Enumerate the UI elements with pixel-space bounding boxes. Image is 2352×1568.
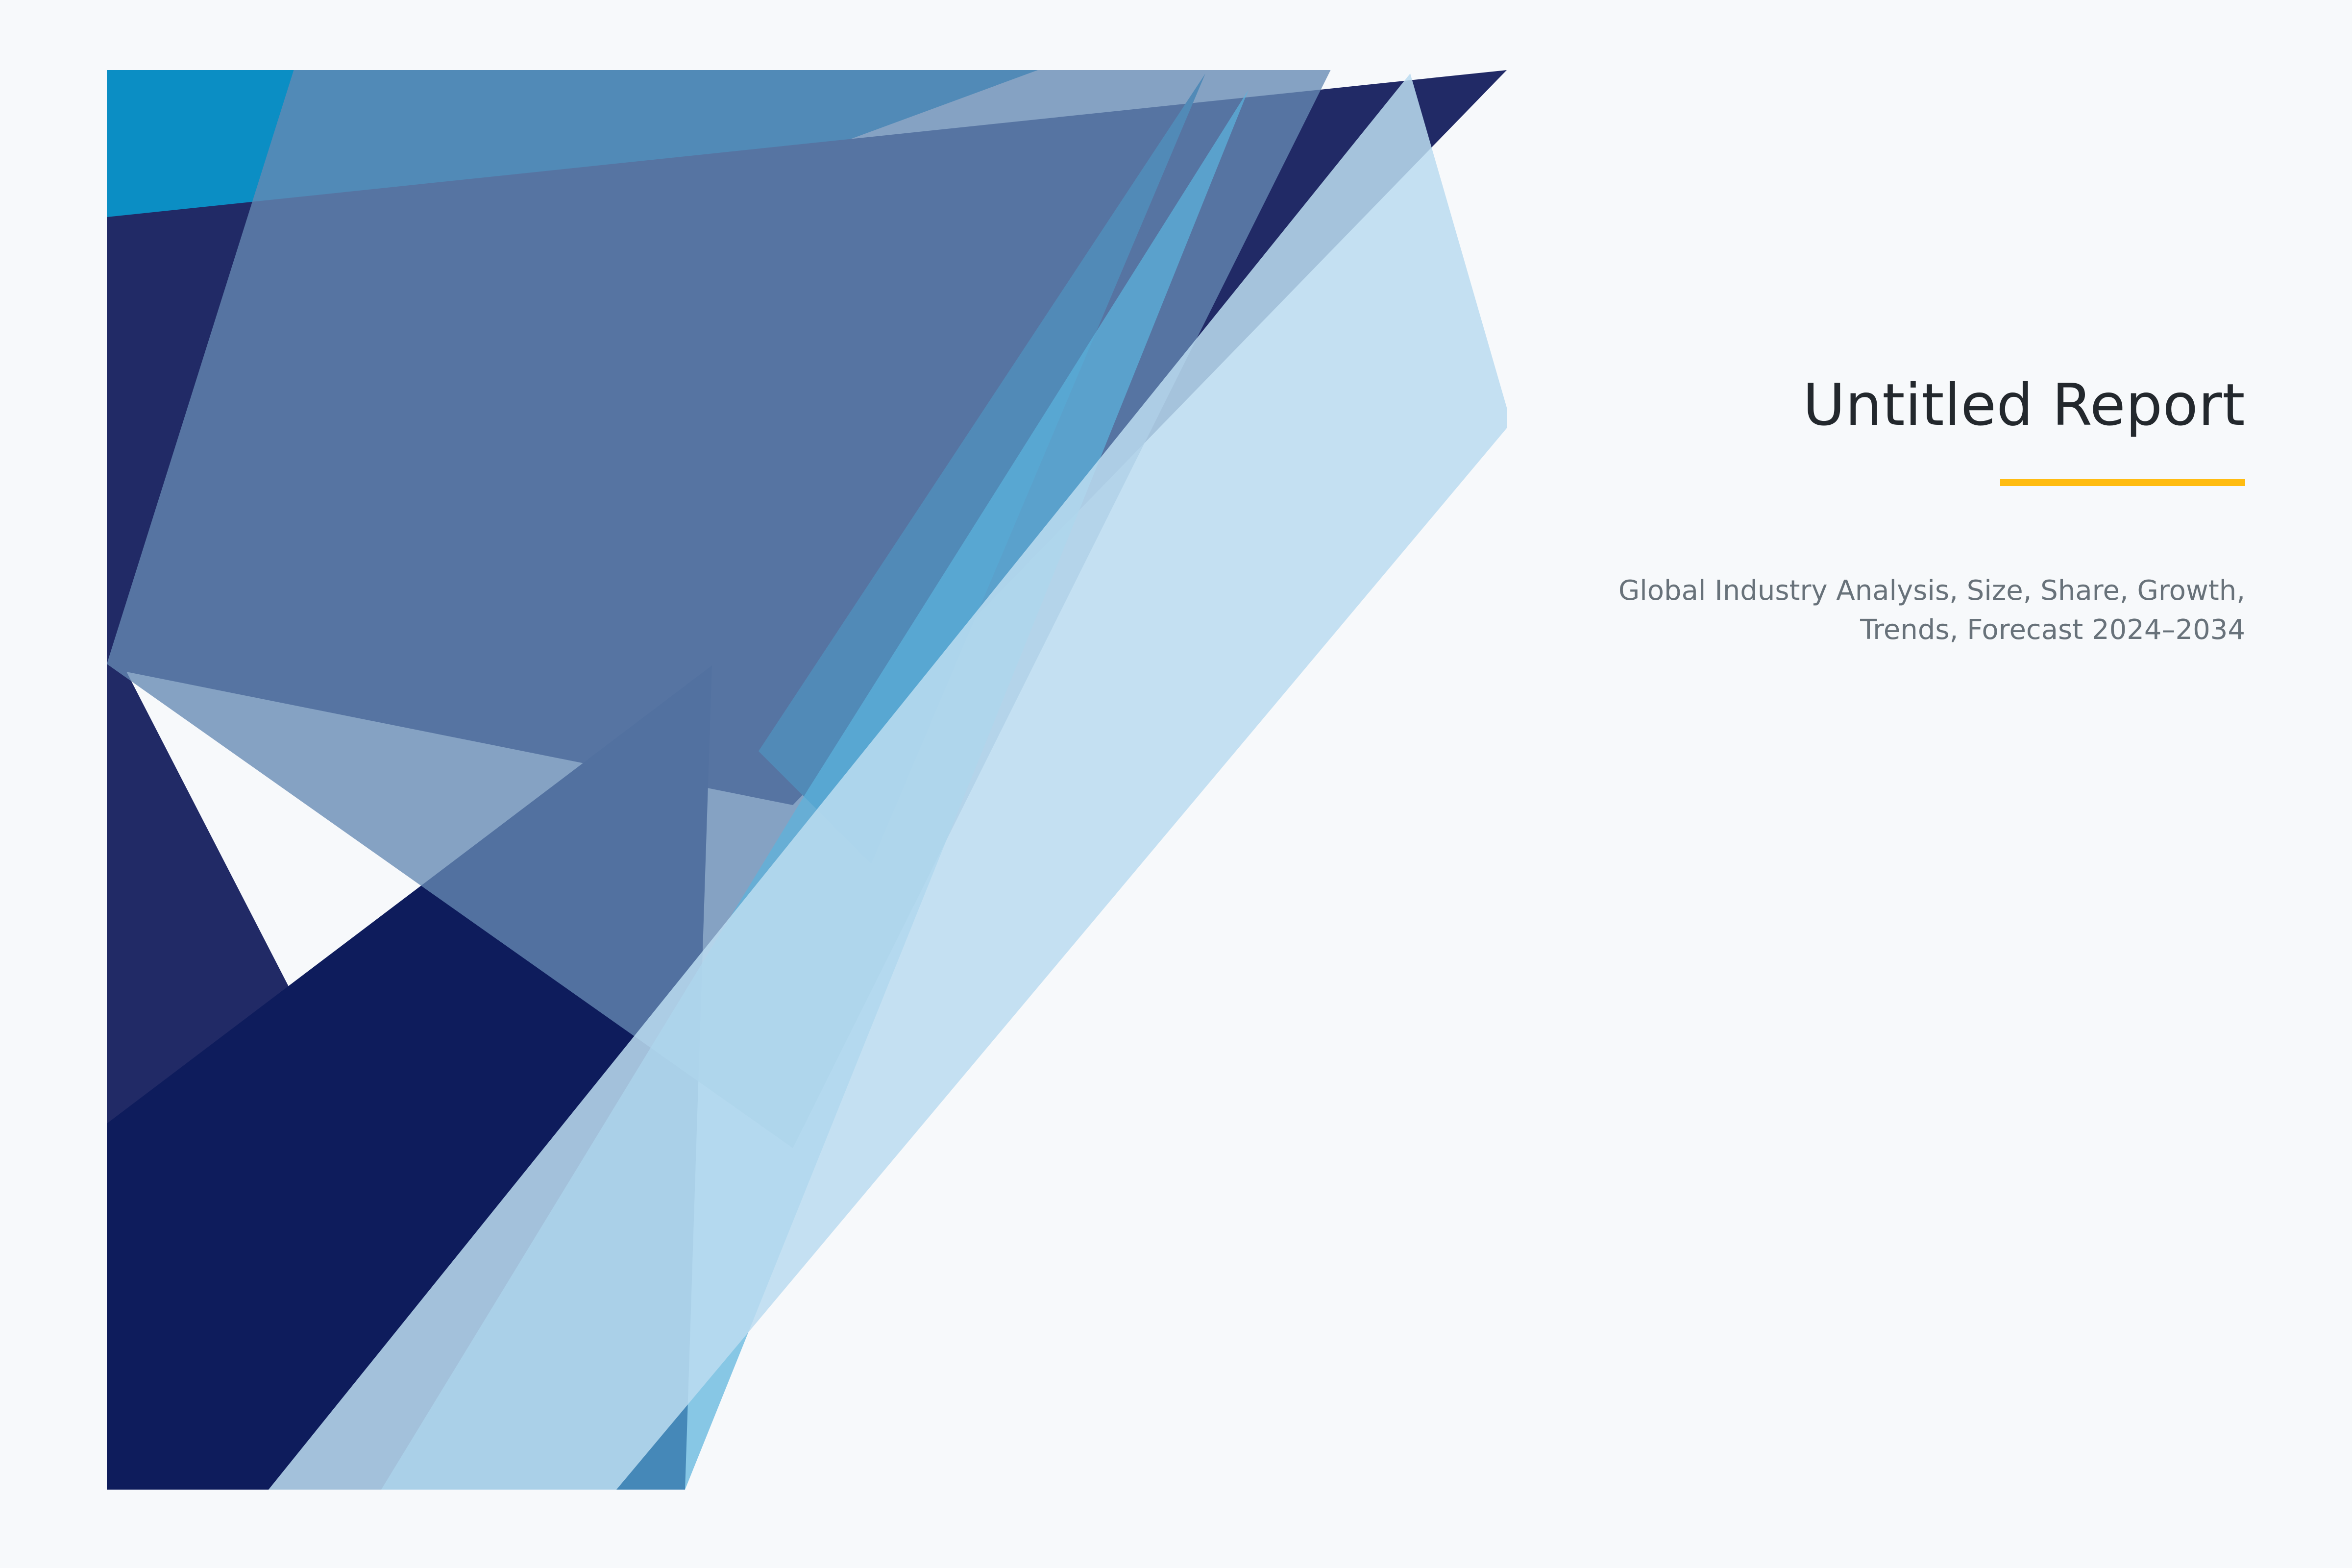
accent-rule-container bbox=[1617, 479, 2245, 486]
accent-rule bbox=[2000, 479, 2245, 486]
title-block: Untitled Report Global Industry Analysis… bbox=[1617, 372, 2245, 649]
artwork-shape-group bbox=[107, 68, 1511, 1490]
page-title: Untitled Report bbox=[1617, 372, 2245, 437]
cover-artwork-svg bbox=[107, 70, 1507, 1490]
cover-artwork bbox=[107, 70, 1507, 1490]
page-subtitle: Global Industry Analysis, Size, Share, G… bbox=[1617, 571, 2245, 649]
